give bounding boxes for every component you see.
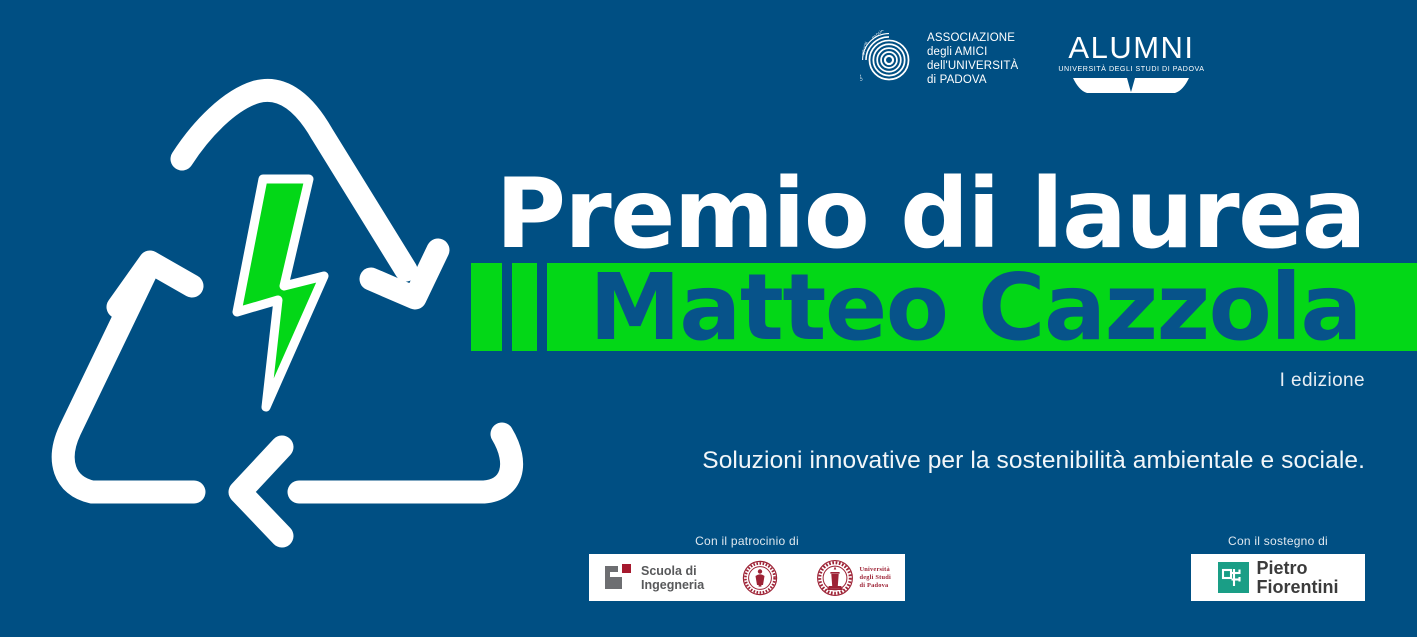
sostegno-logo-card: Pietro Fiorentini [1191,554,1365,601]
scuola-galileiana-seal-icon [742,560,778,596]
unipd-line-3: di Padova [859,582,891,590]
unipd-seal-icon [816,559,854,597]
green-highlight-band [471,263,1417,351]
scuola-line-2: Ingegneria [641,578,704,592]
open-book-icon [1071,76,1191,96]
sostegno-block: Con il sostegno di Pietro Fior [1191,534,1365,601]
patrocinio-caption: Con il patrocinio di [589,534,905,548]
top-logo-row: PADUANI STUDII UNIVERSITAS ASSOCIAZIONE … [860,30,1205,101]
edition-label: I edizione [1280,370,1365,392]
associazione-line-1: ASSOCIAZIONE [927,31,1018,45]
patrocinio-logo-card: Scuola di Ingegneria [589,554,905,601]
scuola-ingegneria-wordmark: Scuola di Ingegneria [641,564,704,592]
scuola-di-ingegneria-logo: Scuola di Ingegneria [603,562,704,593]
patrocinio-block: Con il patrocinio di Scuola di Ingegneri… [589,534,905,601]
associazione-seal-icon: PADUANI STUDII UNIVERSITAS [860,30,918,88]
associazione-line-2: degli AMICI [927,45,1018,59]
poster-subtitle: Soluzioni innovative per la sostenibilit… [702,447,1365,475]
pietro-fiorentini-line-1: Pietro [1257,559,1339,578]
svg-text:UNIVERSITAS: UNIVERSITAS [860,54,864,81]
pietro-fiorentini-wordmark: Pietro Fiorentini [1257,559,1339,596]
alumni-subtitle: UNIVERSITÀ DEGLI STUDI DI PADOVA [1058,65,1204,73]
alumni-wordmark: ALUMNI [1058,32,1204,63]
title-line-matteo-cazzola: Matteo Cazzola [589,266,1361,350]
pietro-fiorentini-mark-icon [1218,562,1249,593]
lightning-bolt-shape [237,179,324,407]
associazione-wordmark: ASSOCIAZIONE degli AMICI dell'UNIVERSITÀ… [927,31,1018,87]
associazione-amici-unipd-logo: PADUANI STUDII UNIVERSITAS ASSOCIAZIONE … [860,30,1018,88]
recycling-lightning-bolt-icon [34,62,544,552]
poster-canvas: PADUANI STUDII UNIVERSITAS ASSOCIAZIONE … [0,0,1417,637]
alumni-unipd-logo: ALUMNI UNIVERSITÀ DEGLI STUDI DI PADOVA [1058,30,1204,101]
universita-degli-studi-di-padova-logo: Università degli Studi di Padova [816,559,891,597]
unipd-line-1: Università [859,566,891,574]
unipd-line-2: degli Studi [859,574,891,582]
associazione-line-4: di PADOVA [927,73,1018,87]
pietro-fiorentini-line-2: Fiorentini [1257,578,1339,597]
scuola-ingegneria-mark-icon [603,562,634,593]
title-line-premio-di-laurea: Premio di laurea [496,166,1365,262]
pietro-fiorentini-logo: Pietro Fiorentini [1218,559,1339,596]
sostegno-caption: Con il sostegno di [1191,534,1365,548]
scuola-line-1: Scuola di [641,564,704,578]
associazione-line-3: dell'UNIVERSITÀ [927,59,1018,73]
unipd-wordmark: Università degli Studi di Padova [859,566,891,590]
